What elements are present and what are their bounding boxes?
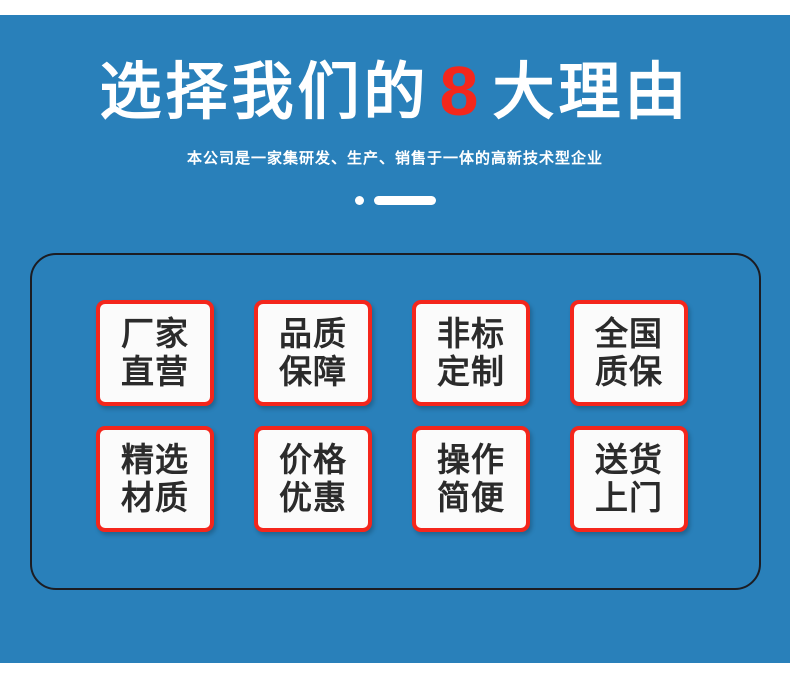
bar-icon [374, 196, 436, 205]
badge-line-2: 直营 [121, 353, 189, 391]
badge-line-1: 厂家 [121, 315, 189, 353]
badge-item[interactable]: 非标 定制 [412, 300, 530, 406]
badge-item[interactable]: 品质 保障 [254, 300, 372, 406]
badge-line-1: 全国 [595, 315, 663, 353]
badge-line-1: 非标 [437, 315, 505, 353]
badge-item[interactable]: 送货 上门 [570, 426, 688, 532]
badge-line-1: 送货 [595, 441, 663, 479]
headline-number: 8 [430, 52, 493, 130]
page-title: 选择我们的8大理由 [0, 51, 790, 133]
badge-item[interactable]: 价格 优惠 [254, 426, 372, 532]
headline-suffix: 大理由 [492, 58, 690, 127]
badge-line-1: 精选 [121, 441, 189, 479]
badge-line-2: 保障 [279, 353, 347, 391]
badge-grid: 厂家 直营 品质 保障 非标 定制 全国 质保 精选 材质 价格 优惠 操作 简… [96, 300, 694, 532]
badge-line-2: 材质 [121, 479, 189, 517]
headline-prefix: 选择我们的 [100, 58, 430, 127]
badge-line-2: 上门 [595, 479, 663, 517]
badge-line-1: 品质 [279, 315, 347, 353]
subtitle: 本公司是一家集研发、生产、销售于一体的高新技术型企业 [0, 147, 790, 168]
badge-line-2: 质保 [595, 353, 663, 391]
badge-line-2: 优惠 [279, 479, 347, 517]
badge-item[interactable]: 操作 简便 [412, 426, 530, 532]
badge-item[interactable]: 精选 材质 [96, 426, 214, 532]
badge-line-1: 操作 [437, 441, 505, 479]
promo-poster: 选择我们的8大理由 本公司是一家集研发、生产、销售于一体的高新技术型企业 厂家 … [0, 0, 790, 678]
badge-line-1: 价格 [279, 441, 347, 479]
badge-line-2: 定制 [437, 353, 505, 391]
divider-ornament [0, 196, 790, 205]
badge-item[interactable]: 全国 质保 [570, 300, 688, 406]
badge-item[interactable]: 厂家 直营 [96, 300, 214, 406]
badge-line-2: 简便 [437, 479, 505, 517]
dot-icon [355, 196, 364, 205]
